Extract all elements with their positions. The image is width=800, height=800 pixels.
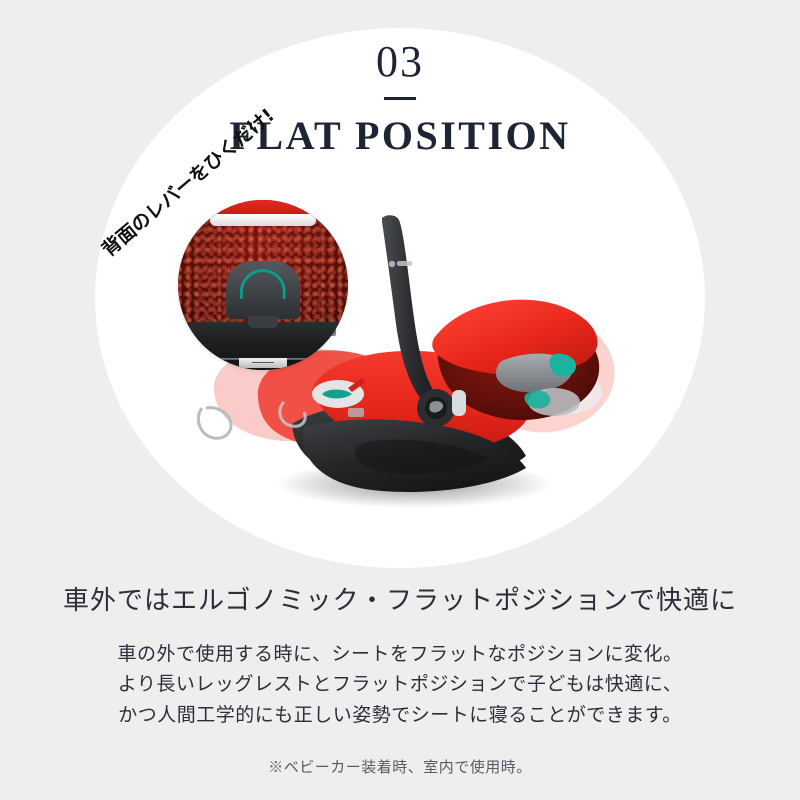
inset-lever-tab — [248, 316, 278, 329]
title-divider — [384, 97, 416, 100]
step-number: 03 — [0, 40, 800, 84]
inset-headrest-band — [206, 200, 320, 216]
wire-loop-left — [198, 408, 231, 439]
product-feature-page: 03 FLAT POSITION 背面のレバーをひくだけ! — [0, 0, 800, 800]
body-line-3: かつ人間工学的にも正しい姿勢でシートに寝ることができます。 — [0, 701, 800, 732]
clip-tab-low — [348, 408, 364, 417]
recline-lever-icon — [226, 261, 301, 319]
body-text: 車の外で使用する時に、シートをフラットなポジションに変化。 より長いレッグレスト… — [0, 640, 800, 732]
rear-lever-inset-photo — [178, 200, 348, 370]
inset-lever-teal-accent — [240, 269, 286, 299]
inset-seat-base — [178, 322, 348, 370]
body-line-2: より長いレッグレストとフラットポジションで子どもは快適に、 — [0, 670, 800, 701]
footnote: ※ベビーカー装着時、室内で使用時。 — [0, 756, 800, 777]
page-title: FLAT POSITION — [0, 116, 800, 156]
handle-release-button — [452, 390, 466, 416]
inset-strap — [239, 358, 287, 368]
header: 03 FLAT POSITION — [0, 40, 800, 156]
lead-heading: 車外ではエルゴノミック・フラットポジションで快適に — [0, 585, 800, 618]
copy-block: 車外ではエルゴノミック・フラットポジションで快適に 車の外で使用する時に、シート… — [0, 585, 800, 777]
body-line-1: 車の外で使用する時に、シートをフラットなポジションに変化。 — [0, 640, 800, 671]
